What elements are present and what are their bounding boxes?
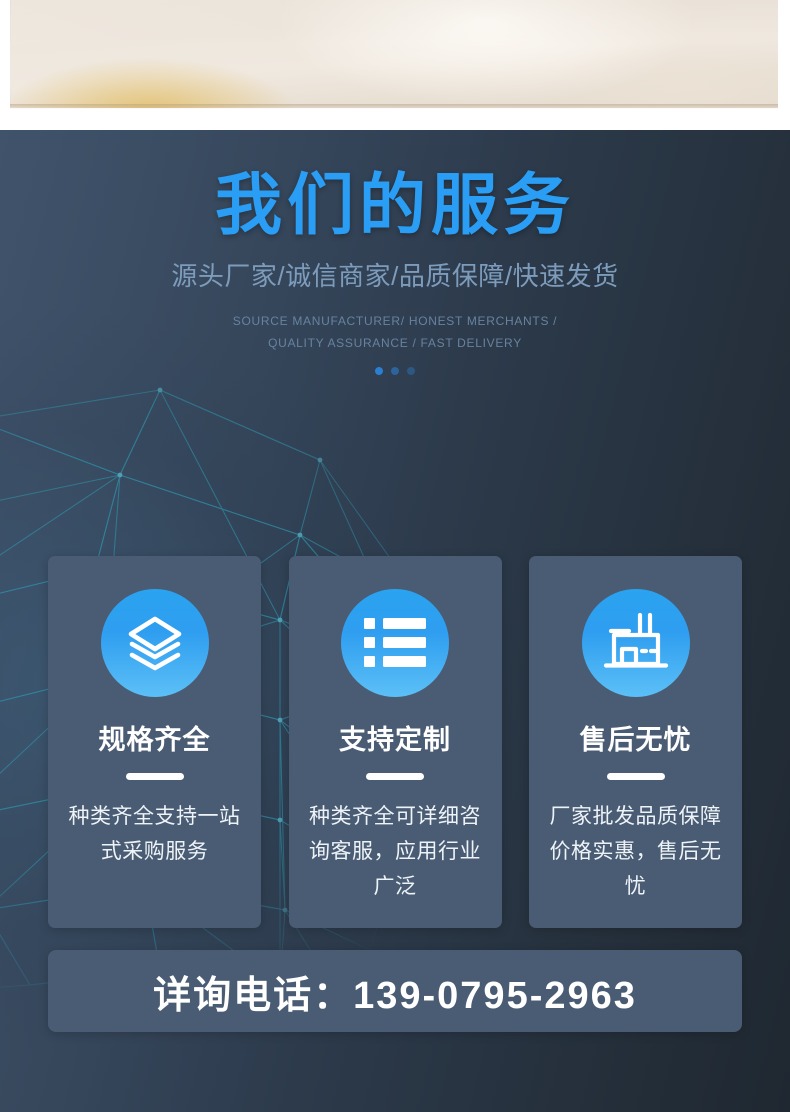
photo-bottom-edge <box>10 104 778 109</box>
feature-card-list: 规格齐全 种类齐全支持一站式采购服务 <box>48 556 742 928</box>
feature-card-title: 规格齐全 <box>62 726 247 756</box>
factory-icon-circle <box>582 589 690 697</box>
feature-card-title: 售后无忧 <box>543 726 728 756</box>
feature-card-description: 种类齐全可详细咨询客服，应用行业广泛 <box>303 799 488 905</box>
hero-english-text: SOURCE MANUFACTURER/ HONEST MERCHANTS / … <box>0 310 790 354</box>
product-photo-strip <box>0 0 790 110</box>
product-photo <box>10 0 778 108</box>
feature-card[interactable]: 售后无忧 厂家批发品质保障价格实惠，售后无忧 <box>529 556 742 928</box>
feature-card-description: 种类齐全支持一站式采购服务 <box>62 799 247 870</box>
contact-phone-bar[interactable]: 详询电话：139-0795-2963 <box>48 950 742 1032</box>
page-title: 我们的服务 <box>0 170 790 242</box>
hero-english-line-2: QUALITY ASSURANCE / FAST DELIVERY <box>0 332 790 354</box>
service-banner-page: 我们的服务 源头厂家/诚信商家/品质保障/快速发货 SOURCE MANUFAC… <box>0 0 790 1112</box>
feature-card-divider <box>366 773 424 780</box>
feature-card[interactable]: 规格齐全 种类齐全支持一站式采购服务 <box>48 556 261 928</box>
list-icon-circle <box>341 589 449 697</box>
feature-card-divider <box>126 773 184 780</box>
carousel-dot-1[interactable] <box>375 367 383 375</box>
hero-block: 我们的服务 源头厂家/诚信商家/品质保障/快速发货 SOURCE MANUFAC… <box>0 170 790 375</box>
factory-icon <box>602 612 670 674</box>
feature-card[interactable]: 支持定制 种类齐全可详细咨询客服，应用行业广泛 <box>289 556 502 928</box>
hero-english-line-1: SOURCE MANUFACTURER/ HONEST MERCHANTS / <box>0 310 790 332</box>
contact-phone-label: 详询电话：139-0795-2963 <box>153 964 637 1019</box>
list-icon <box>364 615 426 671</box>
feature-card-description: 厂家批发品质保障价格实惠，售后无忧 <box>543 799 728 905</box>
carousel-dots[interactable] <box>0 367 790 375</box>
layers-icon-circle <box>101 589 209 697</box>
carousel-dot-2[interactable] <box>391 367 399 375</box>
hero-subtitle: 源头厂家/诚信商家/品质保障/快速发货 <box>0 260 790 293</box>
service-panel: 我们的服务 源头厂家/诚信商家/品质保障/快速发货 SOURCE MANUFAC… <box>0 130 790 1112</box>
carousel-dot-3[interactable] <box>407 367 415 375</box>
feature-card-title: 支持定制 <box>303 726 488 756</box>
feature-card-divider <box>607 773 665 780</box>
layers-icon <box>123 611 187 675</box>
